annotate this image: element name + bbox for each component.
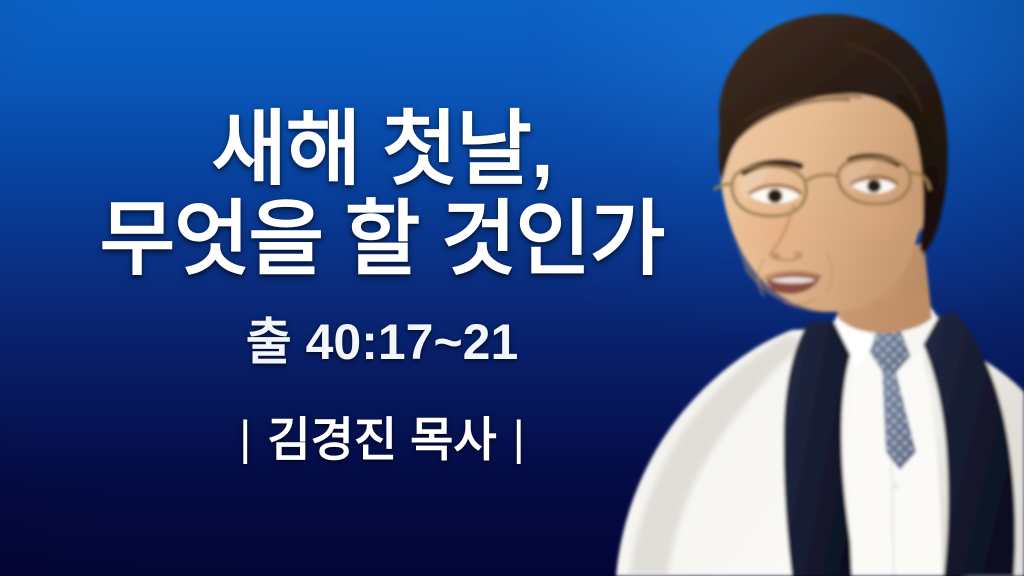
sermon-thumbnail: 새해 첫날, 무엇을 할 것인가 출 40:17~21 |김경진 목사| [0,0,1024,576]
speaker-left-bar-icon: | [239,412,251,464]
speaker-name: 김경진 목사 [267,413,496,466]
speaker-right-bar-icon: | [513,412,525,464]
pastor-portrait [594,0,1024,576]
